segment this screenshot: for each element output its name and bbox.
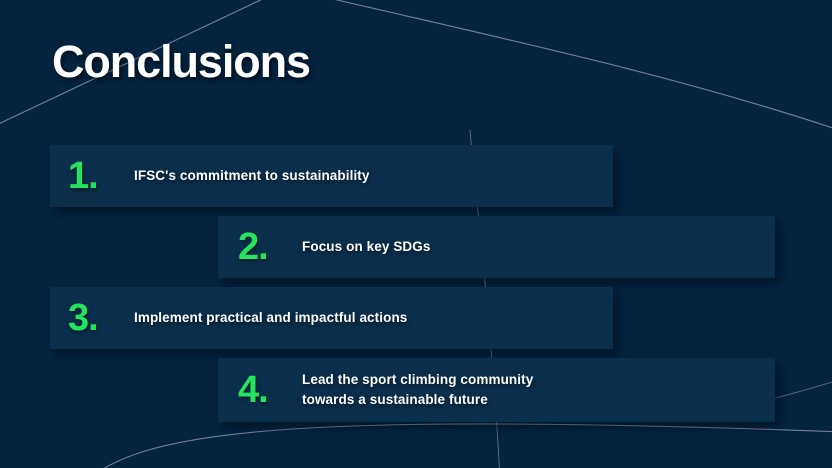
list-item-label: Focus on key SDGs [284,237,775,257]
list-item-number: 3. [50,299,116,337]
list-item-number: 4. [218,371,284,409]
list-item-number: 1. [50,157,116,195]
list-item-label: IFSC's commitment to sustainability [116,166,613,186]
list-item[interactable]: 4. Lead the sport climbing community tow… [218,358,775,422]
list-item[interactable]: 1. IFSC's commitment to sustainability [50,145,613,207]
list-item-label: Lead the sport climbing community toward… [284,370,775,409]
page-title: Conclusions [52,38,310,85]
conclusions-list: 1. IFSC's commitment to sustainability 2… [0,145,832,431]
slide-canvas: Conclusions 1. IFSC's commitment to sust… [0,0,832,468]
deco-line-top-right-arc [286,0,832,132]
list-item[interactable]: 3. Implement practical and impactful act… [50,287,613,349]
list-item-number: 2. [218,228,284,266]
list-item-label: Implement practical and impactful action… [116,308,613,328]
list-item[interactable]: 2. Focus on key SDGs [218,216,775,278]
